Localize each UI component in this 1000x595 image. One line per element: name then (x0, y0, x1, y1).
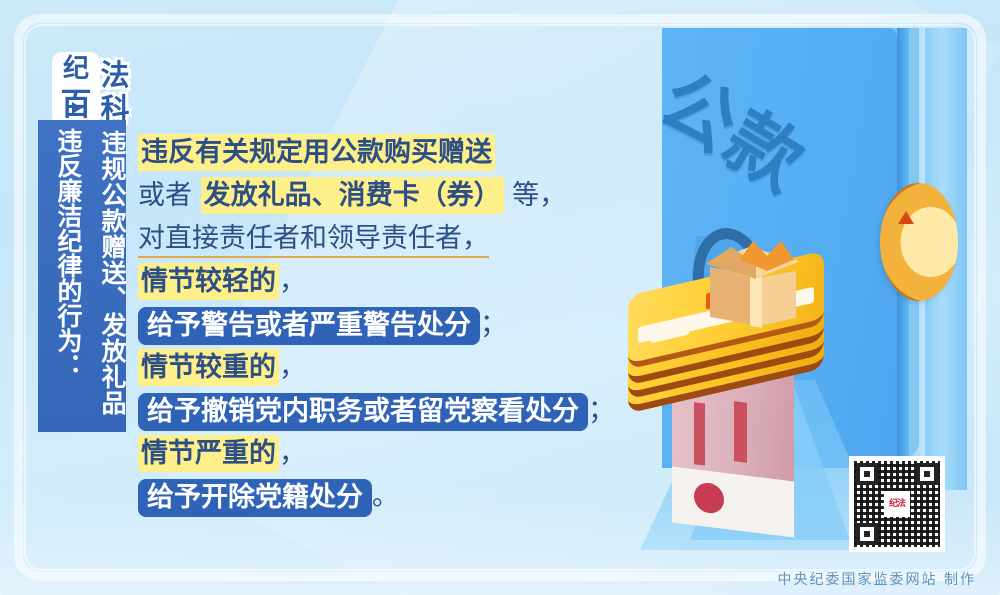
text-segment-hl: 发放礼品、消费卡（券） (201, 177, 504, 214)
money-stripe (694, 402, 705, 465)
gift-box-icon (710, 245, 796, 329)
regulation-text-block: 违反有关规定用公款购买赠送或者 发放礼品、消费卡（券） 等，对直接责任者和领导责… (138, 132, 638, 519)
text-segment-underline: 对直接责任者和领导责任者， (138, 223, 489, 258)
regulation-line: 给予开除党籍处分。 (138, 476, 638, 518)
logo-right-text: 法科 (98, 58, 132, 126)
regulation-line: 情节较轻的， (138, 261, 638, 303)
text-segment-hl: 情节较轻的 (138, 263, 279, 300)
triangle-marker-icon (898, 211, 914, 224)
text-segment-punct: ； (588, 395, 615, 426)
topic-label: 违规公款赠送、发放礼品 (82, 120, 126, 432)
text-segment-badge: 给予撤销党内职务或者留党察看处分 (138, 393, 588, 431)
text-segment-punct: 。 (372, 481, 399, 512)
poster-canvas: 公款 (0, 0, 1000, 595)
producer-credit: 中央纪委国家监委网站 制作 (778, 569, 976, 589)
text-segment-badge: 给予警告或者严重警告处分 (138, 307, 480, 345)
regulation-line: 给予撤销党内职务或者留党察看处分； (138, 390, 638, 432)
text-segment-punct: ， (279, 438, 306, 469)
text-segment-plain: 等， (504, 180, 567, 211)
text-segment-hl: 情节严重的 (138, 435, 279, 472)
card-chip-icon (650, 315, 690, 343)
text-segment-plain: 或者 (138, 180, 201, 211)
text-segment-hl: 情节较重的 (138, 349, 279, 386)
logo-char-top: 纪 (56, 53, 96, 85)
jifa-baike-logo[interactable]: 纪 百 法科 (52, 52, 134, 130)
qr-pattern: 纪法 (854, 461, 940, 547)
text-segment-punct: ， (279, 266, 306, 297)
category-label: 违反廉洁纪律的行为： (40, 128, 82, 428)
qr-code[interactable]: 纪法 (849, 456, 945, 552)
regulation-line: 给予警告或者严重警告处分； (138, 304, 638, 346)
vault-dial-icon (880, 183, 958, 301)
regulation-line: 违反有关规定用公款购买赠送 (138, 132, 638, 174)
play-triangle-icon (72, 102, 82, 114)
regulation-line: 或者 发放礼品、消费卡（券） 等， (138, 175, 638, 217)
regulation-line: 情节较重的， (138, 347, 638, 389)
text-segment-hl: 违反有关规定用公款购买赠送 (138, 134, 495, 171)
text-segment-punct: ， (279, 352, 306, 383)
qr-finder-icon (856, 463, 878, 485)
qr-center-logo: 纪法 (884, 491, 910, 517)
text-segment-badge: 给予开除党籍处分 (138, 479, 372, 517)
qr-finder-icon (916, 463, 938, 485)
text-segment-punct: ； (480, 309, 507, 340)
qr-finder-icon (856, 523, 878, 545)
money-stripe (734, 401, 747, 463)
regulation-line: 情节严重的， (138, 433, 638, 475)
regulation-line: 对直接责任者和领导责任者， (138, 218, 638, 260)
